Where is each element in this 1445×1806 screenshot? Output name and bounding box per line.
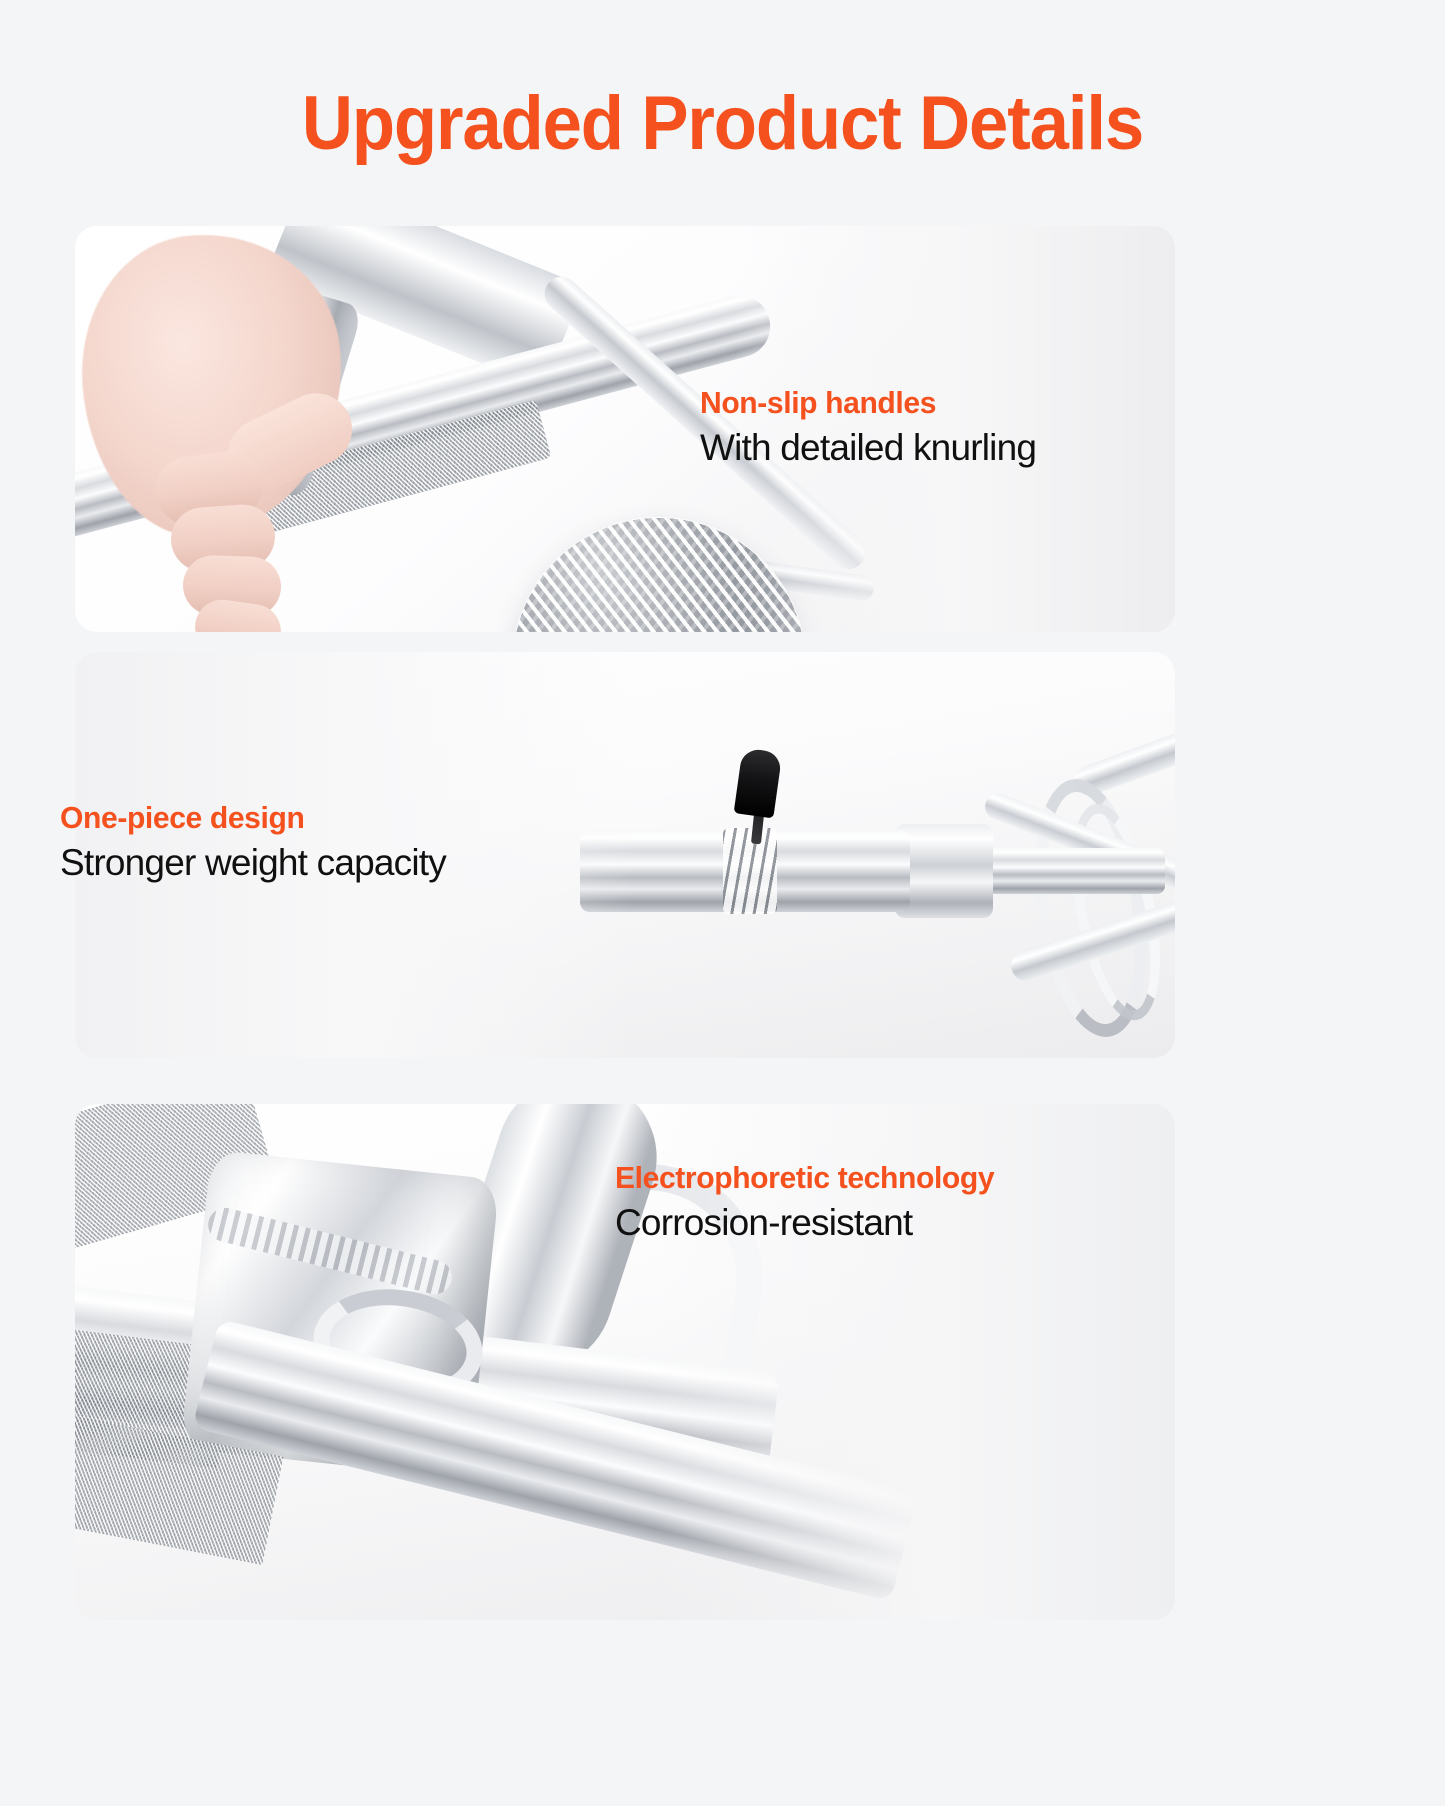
feature-headline: One-piece design bbox=[60, 800, 434, 836]
feature-text-one-piece-design: One-piece design Stronger weight capacit… bbox=[60, 800, 446, 885]
black-clip bbox=[734, 748, 783, 819]
feature-headline: Non-slip handles bbox=[700, 385, 1026, 421]
page-title: Upgraded Product Details bbox=[51, 0, 1395, 162]
spring-collar bbox=[723, 828, 777, 914]
feature-headline: Electrophoretic technology bbox=[615, 1160, 994, 1196]
product-details-page: Upgraded Product Details Non-sli bbox=[0, 0, 1445, 1806]
feature-text-non-slip-handles: Non-slip handles With detailed knurling bbox=[700, 385, 1036, 470]
feature-text-electrophoretic-technology: Electrophoretic technology Corrosion-res… bbox=[615, 1160, 1006, 1245]
feature-subline: Stronger weight capacity bbox=[60, 841, 446, 885]
bar-shaft bbox=[985, 848, 1165, 894]
feature-subline: With detailed knurling bbox=[700, 426, 1036, 470]
feature-subline: Corrosion-resistant bbox=[615, 1201, 1006, 1245]
